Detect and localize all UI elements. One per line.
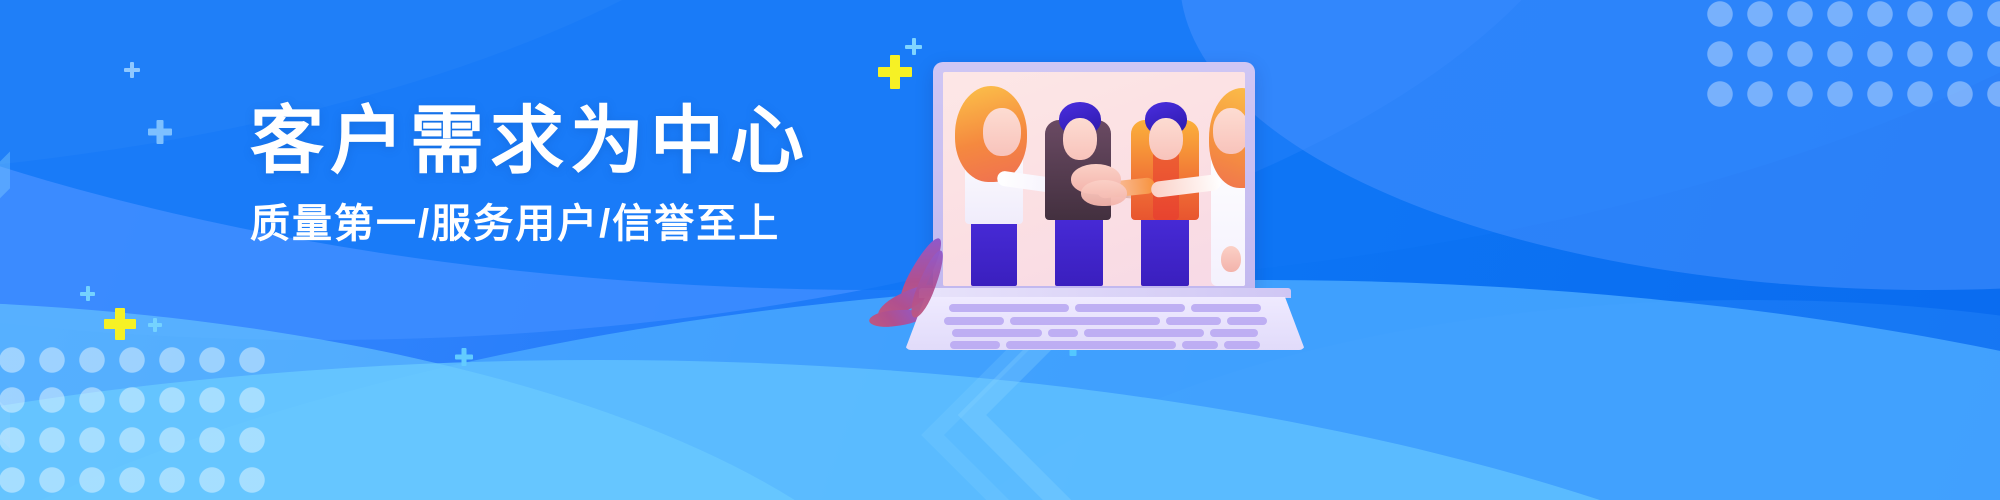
promo-banner: 客户需求为中心 质量第一/服务用户/信誉至上	[0, 0, 2000, 500]
laptop-teamwork-illustration	[905, 62, 1305, 352]
wave-shape-5	[0, 360, 2000, 500]
keyboard-row	[905, 304, 1305, 312]
person-woman-left	[949, 80, 1041, 286]
plus-cyan-small-top-icon	[905, 38, 922, 55]
head	[983, 108, 1021, 156]
plus-yellow-bottom-icon	[104, 308, 136, 340]
headline-block: 客户需求为中心 质量第一/服务用户/信誉至上	[250, 104, 850, 244]
dot-grid-top-right-icon	[1700, 0, 2000, 114]
dot-grid-bottom-left-icon	[0, 340, 272, 500]
plus-cyan-bottom-left-icon	[80, 286, 95, 301]
plus-white-left-icon	[148, 120, 172, 144]
laptop-base	[905, 288, 1305, 350]
plus-cyan-lower-mid-icon	[455, 348, 473, 366]
head	[1063, 118, 1097, 160]
keyboard-row	[905, 341, 1305, 349]
laptop-screen	[943, 72, 1245, 286]
keyboard-row	[905, 317, 1305, 325]
page-subtitle: 质量第一/服务用户/信誉至上	[250, 204, 850, 244]
laptop-hinge	[919, 288, 1291, 298]
person-woman-right	[1195, 74, 1245, 286]
plus-white-upper-left-icon	[124, 62, 140, 78]
laptop-lid	[933, 62, 1255, 294]
keyboard-row	[905, 329, 1305, 337]
page-title: 客户需求为中心	[250, 104, 850, 178]
plus-cyan-bottom-right-icon	[148, 318, 162, 332]
laptop-keyboard	[905, 297, 1305, 350]
hand	[1221, 246, 1241, 272]
head	[1149, 118, 1183, 160]
hand-stack	[1081, 180, 1127, 206]
head	[1213, 108, 1245, 154]
